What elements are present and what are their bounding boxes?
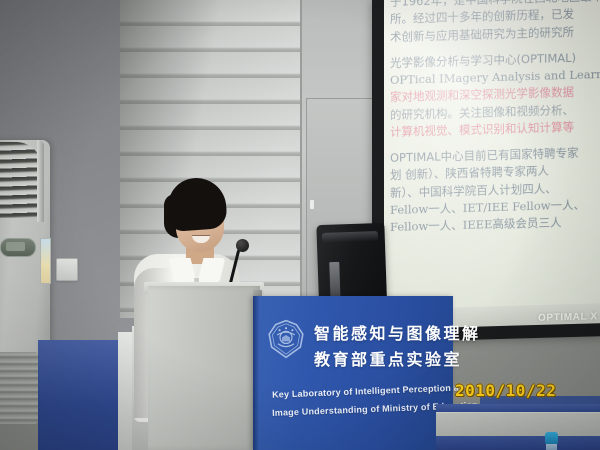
door-handle [310,200,314,209]
podium-body [148,286,260,450]
air-conditioner-grille-icon [0,142,42,218]
blue-band-lower-right [436,436,600,450]
slide-text-block: 于1962年，是中国科学院在西北地区最早成立的研究所（西 所。经过四十多年的创新… [390,0,600,238]
wall-switch-plate [56,258,78,281]
lab-banner-left-edge [253,296,260,450]
speaker-hair [166,176,227,232]
air-conditioner-lower-vent [0,352,38,424]
desk-surface-right [436,412,600,439]
microphone-icon [236,239,249,252]
banner-chinese-line-1: 智能感知与图像理解 [314,320,481,344]
blue-wainscot-left [38,340,122,450]
monitor-bezel-highlight [322,231,378,243]
air-conditioner-lcd [6,242,25,251]
camera-date-stamp: 2010/10/22 [455,381,556,400]
air-conditioner-energy-label [40,238,51,284]
presentation-photograph: 于1962年，是中国科学院在西北地区最早成立的研究所（西 所。经过四十多年的创新… [0,0,600,450]
banner-chinese-line-2: 教育部重点实验室 [314,346,462,370]
water-bottle-cap [545,432,558,444]
university-crest-icon [266,318,306,360]
air-conditioner-grille-edge [37,140,44,222]
projection-screen-surface: 于1962年，是中国科学院在西北地区最早成立的研究所（西 所。经过四十多年的创新… [384,0,600,327]
slide-footer-label: OPTIMAL X [538,311,598,324]
